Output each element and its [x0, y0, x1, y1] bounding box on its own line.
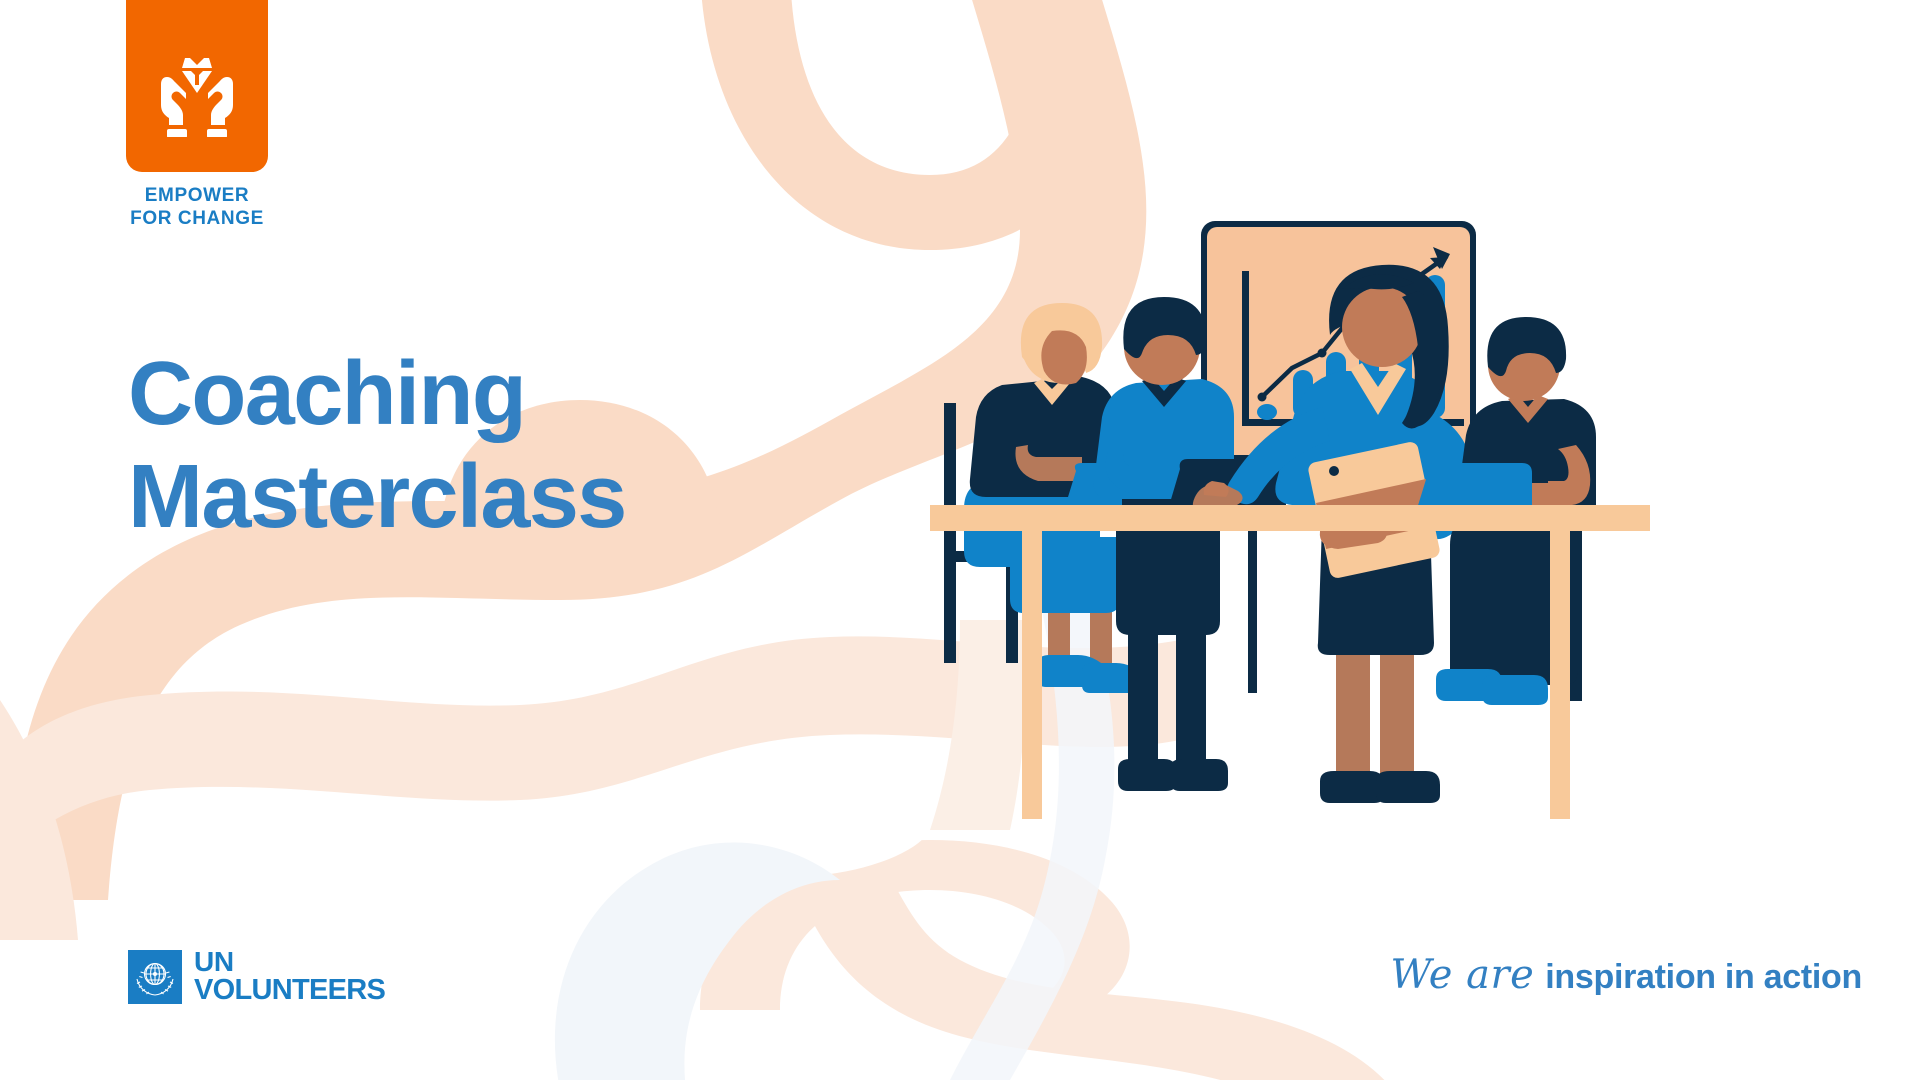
tagline: We are inspiration in action — [1390, 952, 1862, 998]
page-title-line-2: Masterclass — [128, 446, 626, 549]
page-title-line-1: Coaching — [128, 343, 626, 446]
un-volunteers-logo: UN VOLUNTEERS — [128, 948, 385, 1005]
tagline-script-text: We are — [1390, 952, 1534, 998]
classroom-presentation-illustration — [930, 185, 1780, 845]
un-wordmark-line-1: UN — [194, 948, 385, 976]
brand-name-line-2: FOR CHANGE — [126, 208, 268, 231]
brand-name-line-1: EMPOWER — [126, 185, 268, 208]
un-volunteers-wordmark: UN VOLUNTEERS — [194, 948, 385, 1005]
slide-canvas: EMPOWER FOR CHANGE Coaching Masterclass — [0, 0, 1920, 1080]
tagline-bold-text: inspiration in action — [1545, 958, 1862, 997]
un-emblem-icon — [128, 950, 182, 1004]
brand-name: EMPOWER FOR CHANGE — [126, 185, 268, 231]
un-wordmark-line-2: VOLUNTEERS — [194, 976, 385, 1005]
brand-logo: EMPOWER FOR CHANGE — [126, 0, 286, 231]
page-title: Coaching Masterclass — [128, 343, 626, 548]
hands-holding-gem-icon — [126, 0, 268, 172]
